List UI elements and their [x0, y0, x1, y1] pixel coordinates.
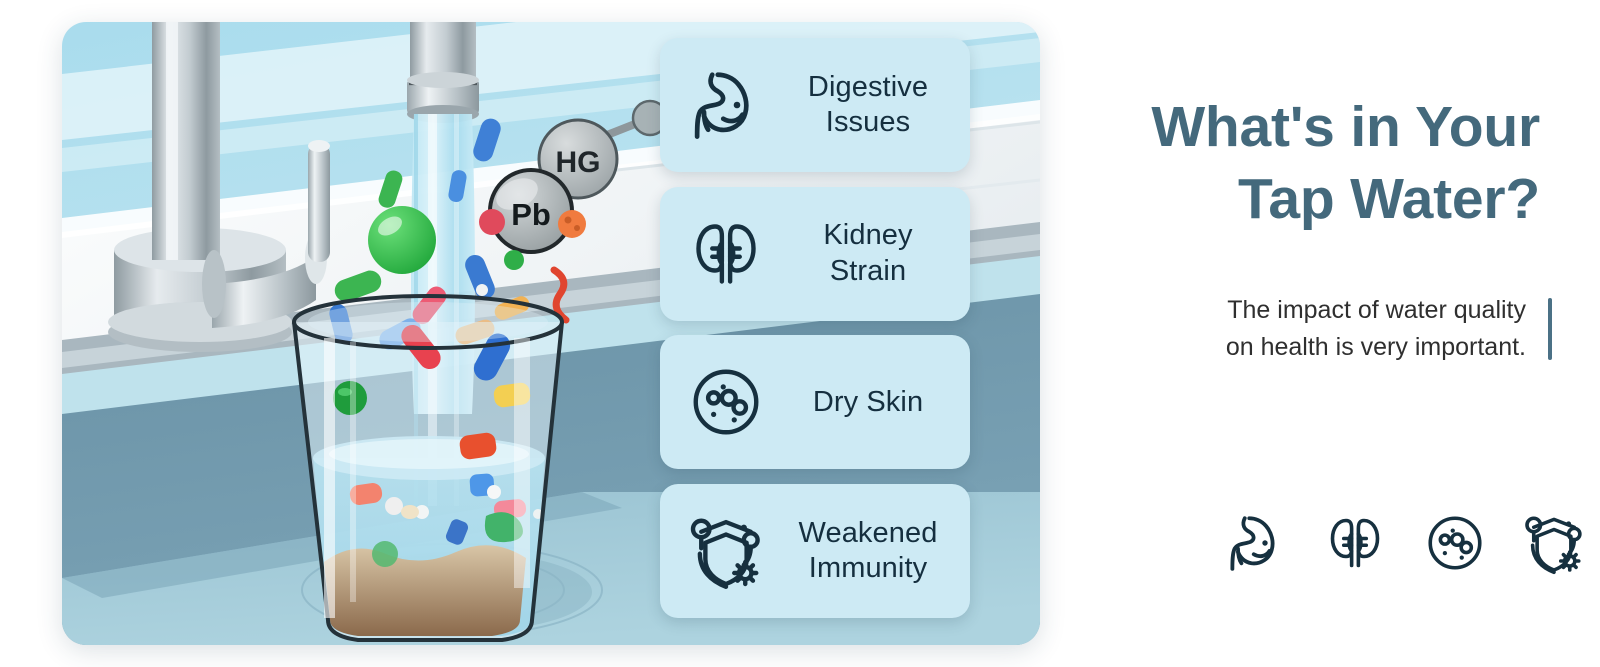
card-digestive-issues[interactable]: DigestiveIssues — [660, 38, 970, 172]
dry-skin-icon — [678, 354, 774, 450]
card-dry-skin[interactable]: Dry Skin — [660, 335, 970, 469]
dry-skin-icon — [1419, 507, 1491, 579]
stomach-icon — [678, 57, 774, 153]
right-text-panel: What's in Your Tap Water? The impact of … — [1070, 0, 1600, 667]
lead-molecule: Pb — [490, 170, 572, 252]
subtitle-text: The impact of water quality on health is… — [1070, 292, 1548, 366]
kidneys-icon — [1319, 507, 1391, 579]
card-weakened-immunity[interactable]: WeakenedImmunity — [660, 484, 970, 618]
card-kidney-strain[interactable]: KidneyStrain — [660, 187, 970, 321]
shield-immunity-icon — [1518, 507, 1590, 579]
faucet-column — [152, 22, 220, 260]
subtitle-block: The impact of water quality on health is… — [1070, 292, 1552, 366]
svg-text:HG: HG — [556, 146, 601, 179]
health-impact-card-list: DigestiveIssues KidneyStrain — [660, 38, 970, 618]
kidneys-icon — [678, 206, 774, 302]
svg-text:Pb: Pb — [511, 197, 551, 232]
page-title: What's in Your Tap Water? — [1070, 92, 1540, 236]
vertical-divider — [1548, 298, 1552, 360]
drinking-glass — [294, 296, 562, 640]
infographic-canvas: HG Pb — [0, 0, 1600, 667]
stomach-icon — [1220, 507, 1292, 579]
summary-icon-row — [1220, 505, 1590, 581]
card-label-dry-skin: Dry Skin — [780, 385, 956, 420]
faucet-handle-lever — [308, 144, 330, 262]
shield-immunity-icon — [678, 503, 774, 599]
faucet-spout — [407, 22, 479, 123]
card-label-weakened-immunity: WeakenedImmunity — [780, 516, 956, 587]
card-label-digestive-issues: DigestiveIssues — [780, 70, 956, 141]
card-label-kidney-strain: KidneyStrain — [780, 218, 956, 289]
green-ball-particle — [368, 206, 436, 274]
